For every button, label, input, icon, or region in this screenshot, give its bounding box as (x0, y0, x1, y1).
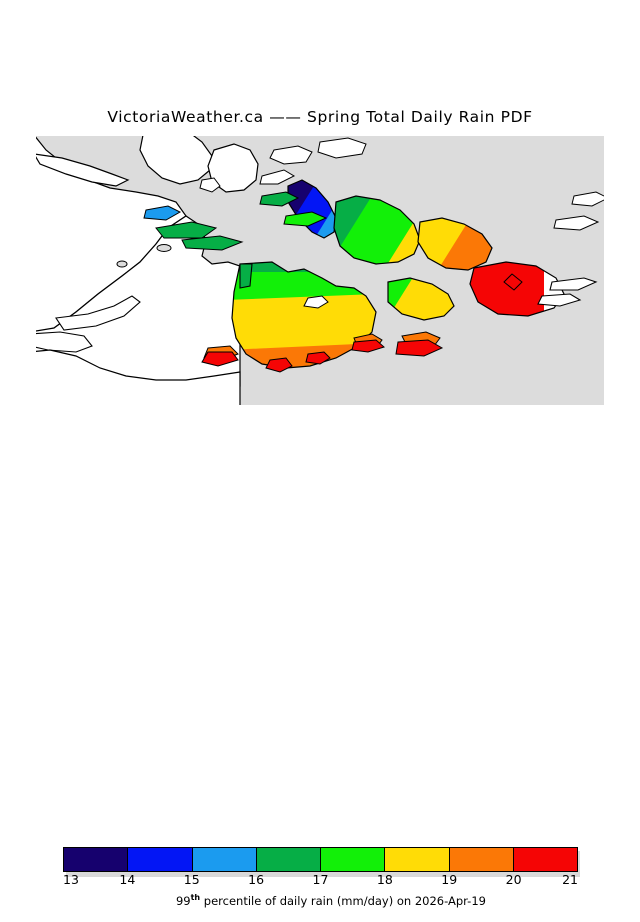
colorbar-segment (321, 848, 385, 871)
colorbar-area: 131415161718192021 99th percentile of da… (0, 420, 640, 480)
bay-islet-1 (157, 245, 171, 252)
map-panel (36, 136, 604, 405)
colorbar (63, 847, 578, 872)
caption-prefix: 99 (176, 894, 191, 908)
colorbar-caption: 99th percentile of daily rain (mm/day) o… (0, 879, 640, 922)
page-title: VictoriaWeather.ca —— Spring Total Daily… (0, 108, 640, 126)
bay-islet-2 (117, 261, 127, 267)
weather-map-page: VictoriaWeather.ca —— Spring Total Daily… (0, 0, 640, 480)
colorbar-segment (514, 848, 577, 871)
colorbar-segment (450, 848, 514, 871)
caption-superscript: th (191, 893, 201, 902)
caption-rest: percentile of daily rain (mm/day) on 202… (200, 894, 486, 908)
colorbar-segment (128, 848, 192, 871)
west-green-wedge (240, 264, 252, 288)
colorbar-segment (385, 848, 449, 871)
colorbar-segment (257, 848, 321, 871)
colorbar-segment (64, 848, 128, 871)
colorbar-segment (193, 848, 257, 871)
map-svg (36, 136, 604, 405)
